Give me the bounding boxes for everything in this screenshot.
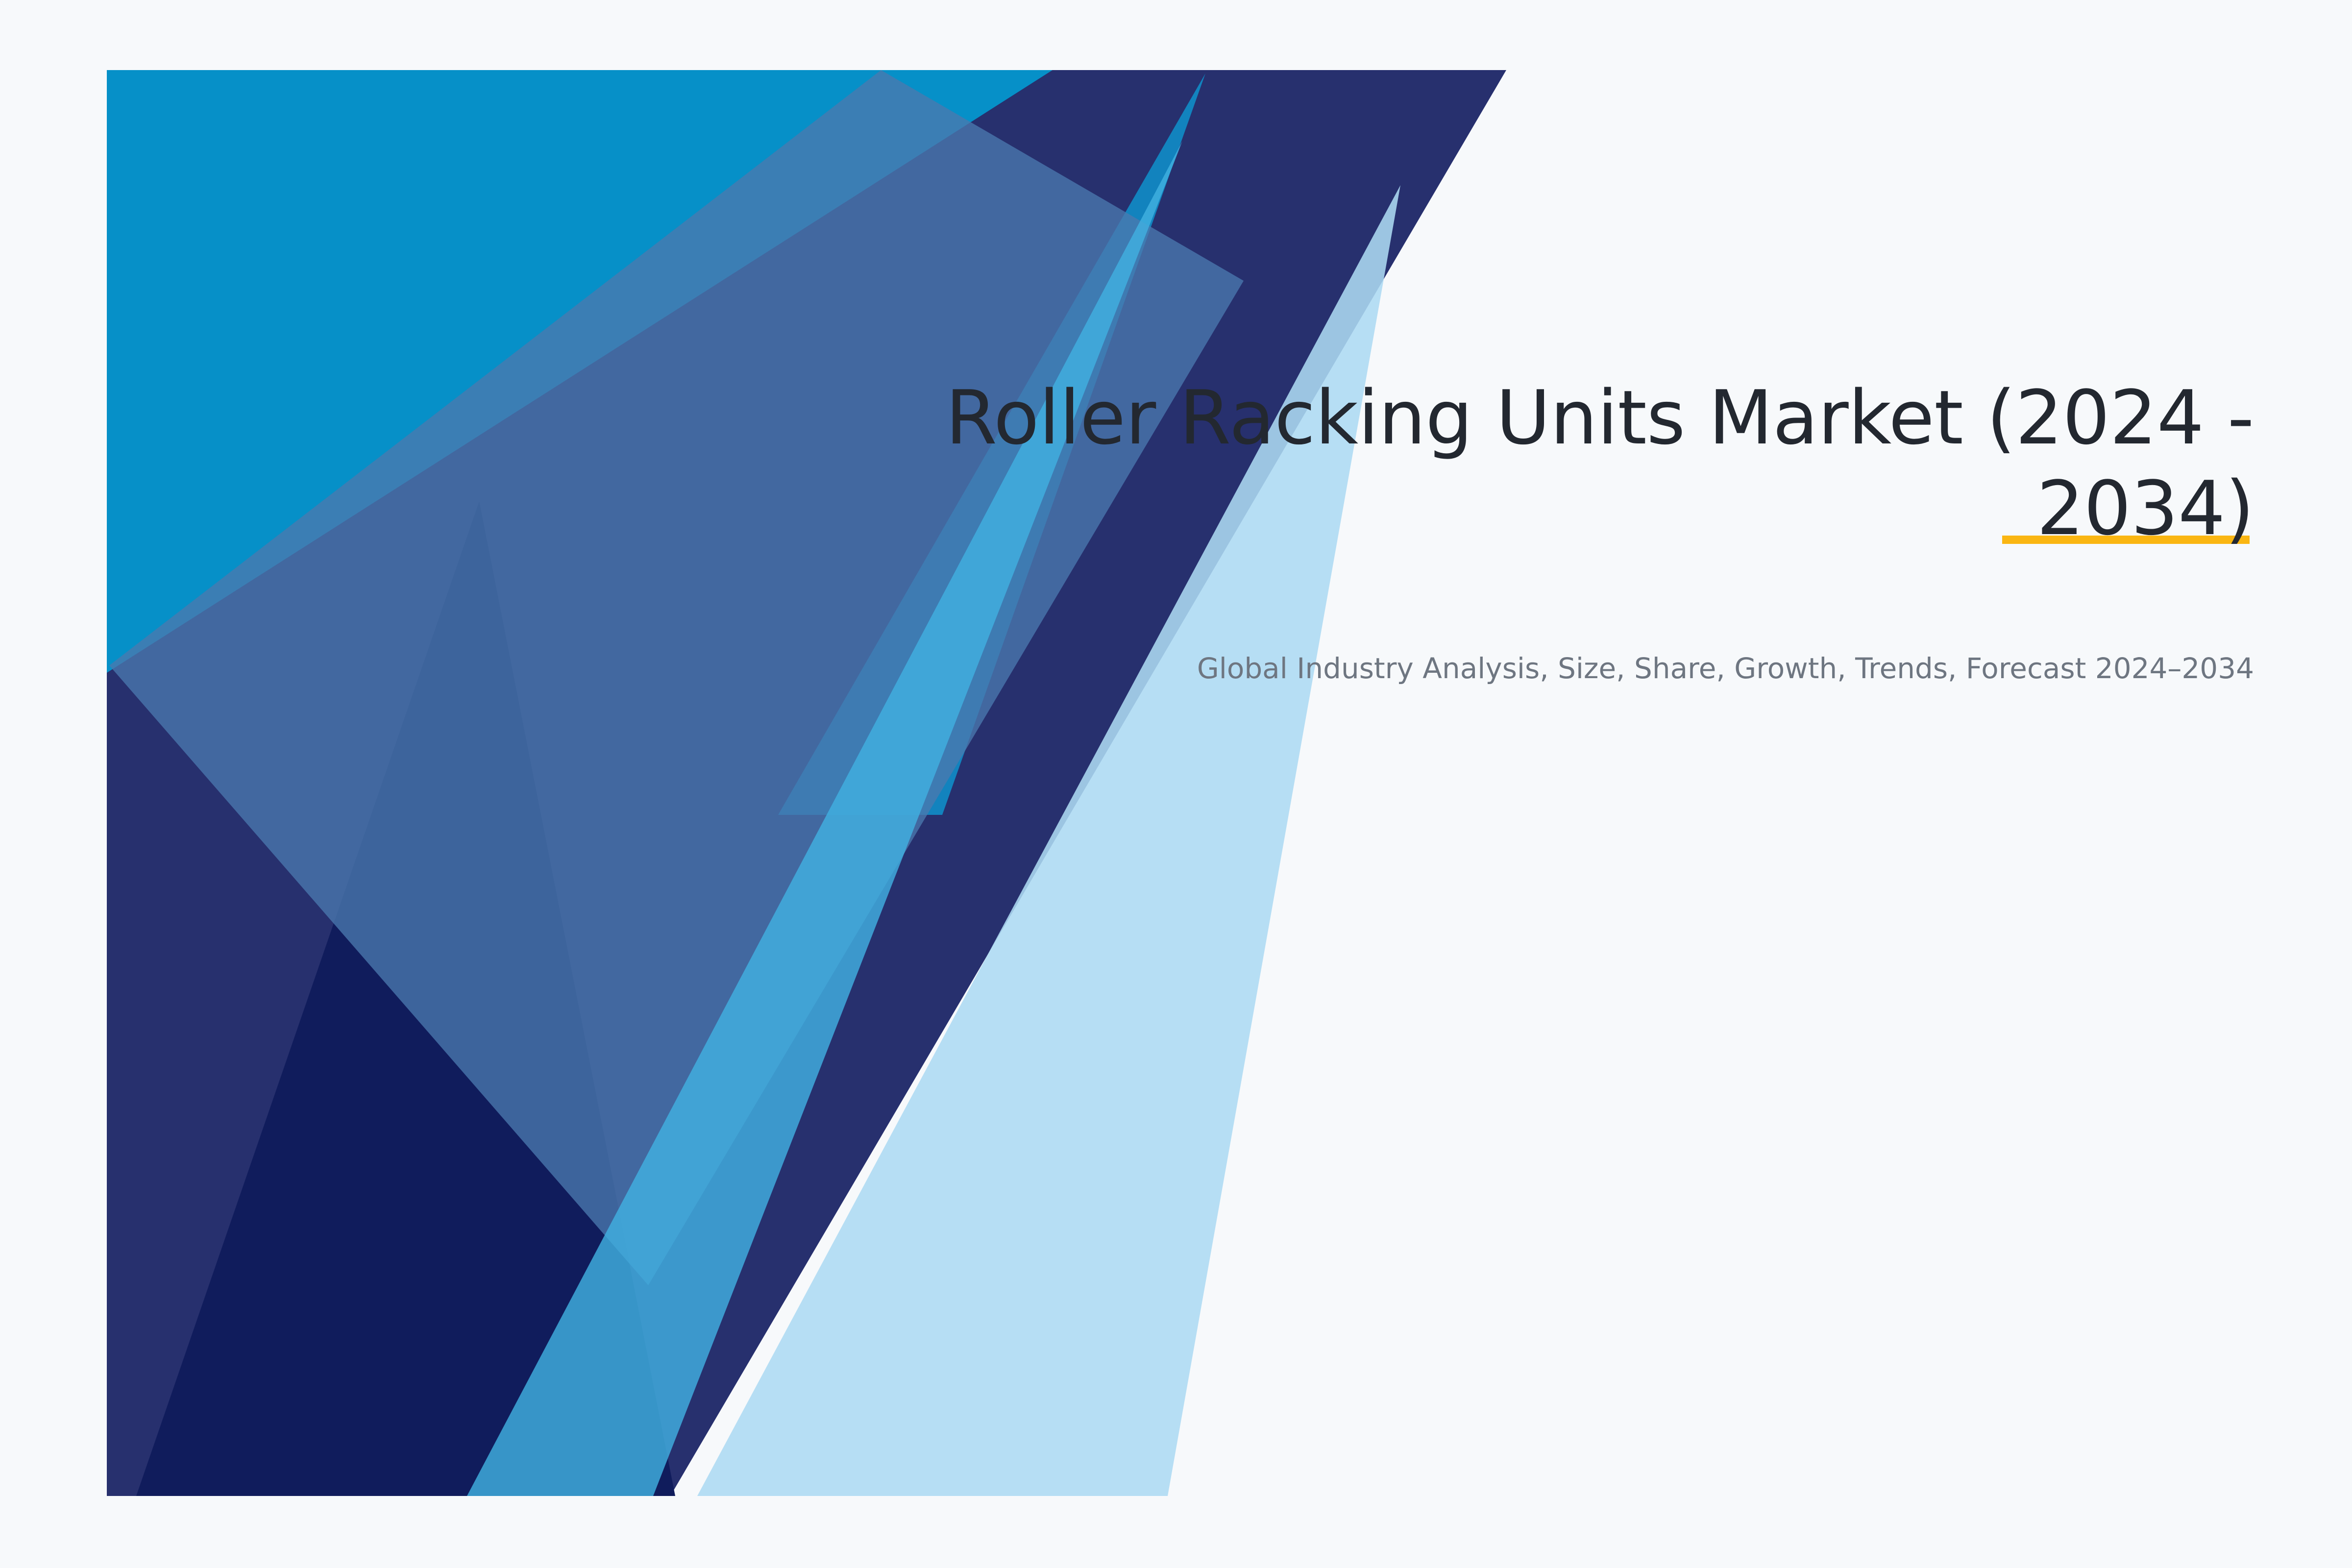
page-title: Roller Racking Units Market (2024 - 2034… (892, 372, 2254, 554)
report-cover-slide: Roller Racking Units Market (2024 - 2034… (0, 0, 2352, 1568)
page-subtitle: Global Industry Analysis, Size, Share, G… (892, 650, 2254, 688)
abstract-geometric-cover-graphic (107, 70, 1506, 1496)
title-block: Roller Racking Units Market (2024 - 2034… (892, 372, 2254, 554)
